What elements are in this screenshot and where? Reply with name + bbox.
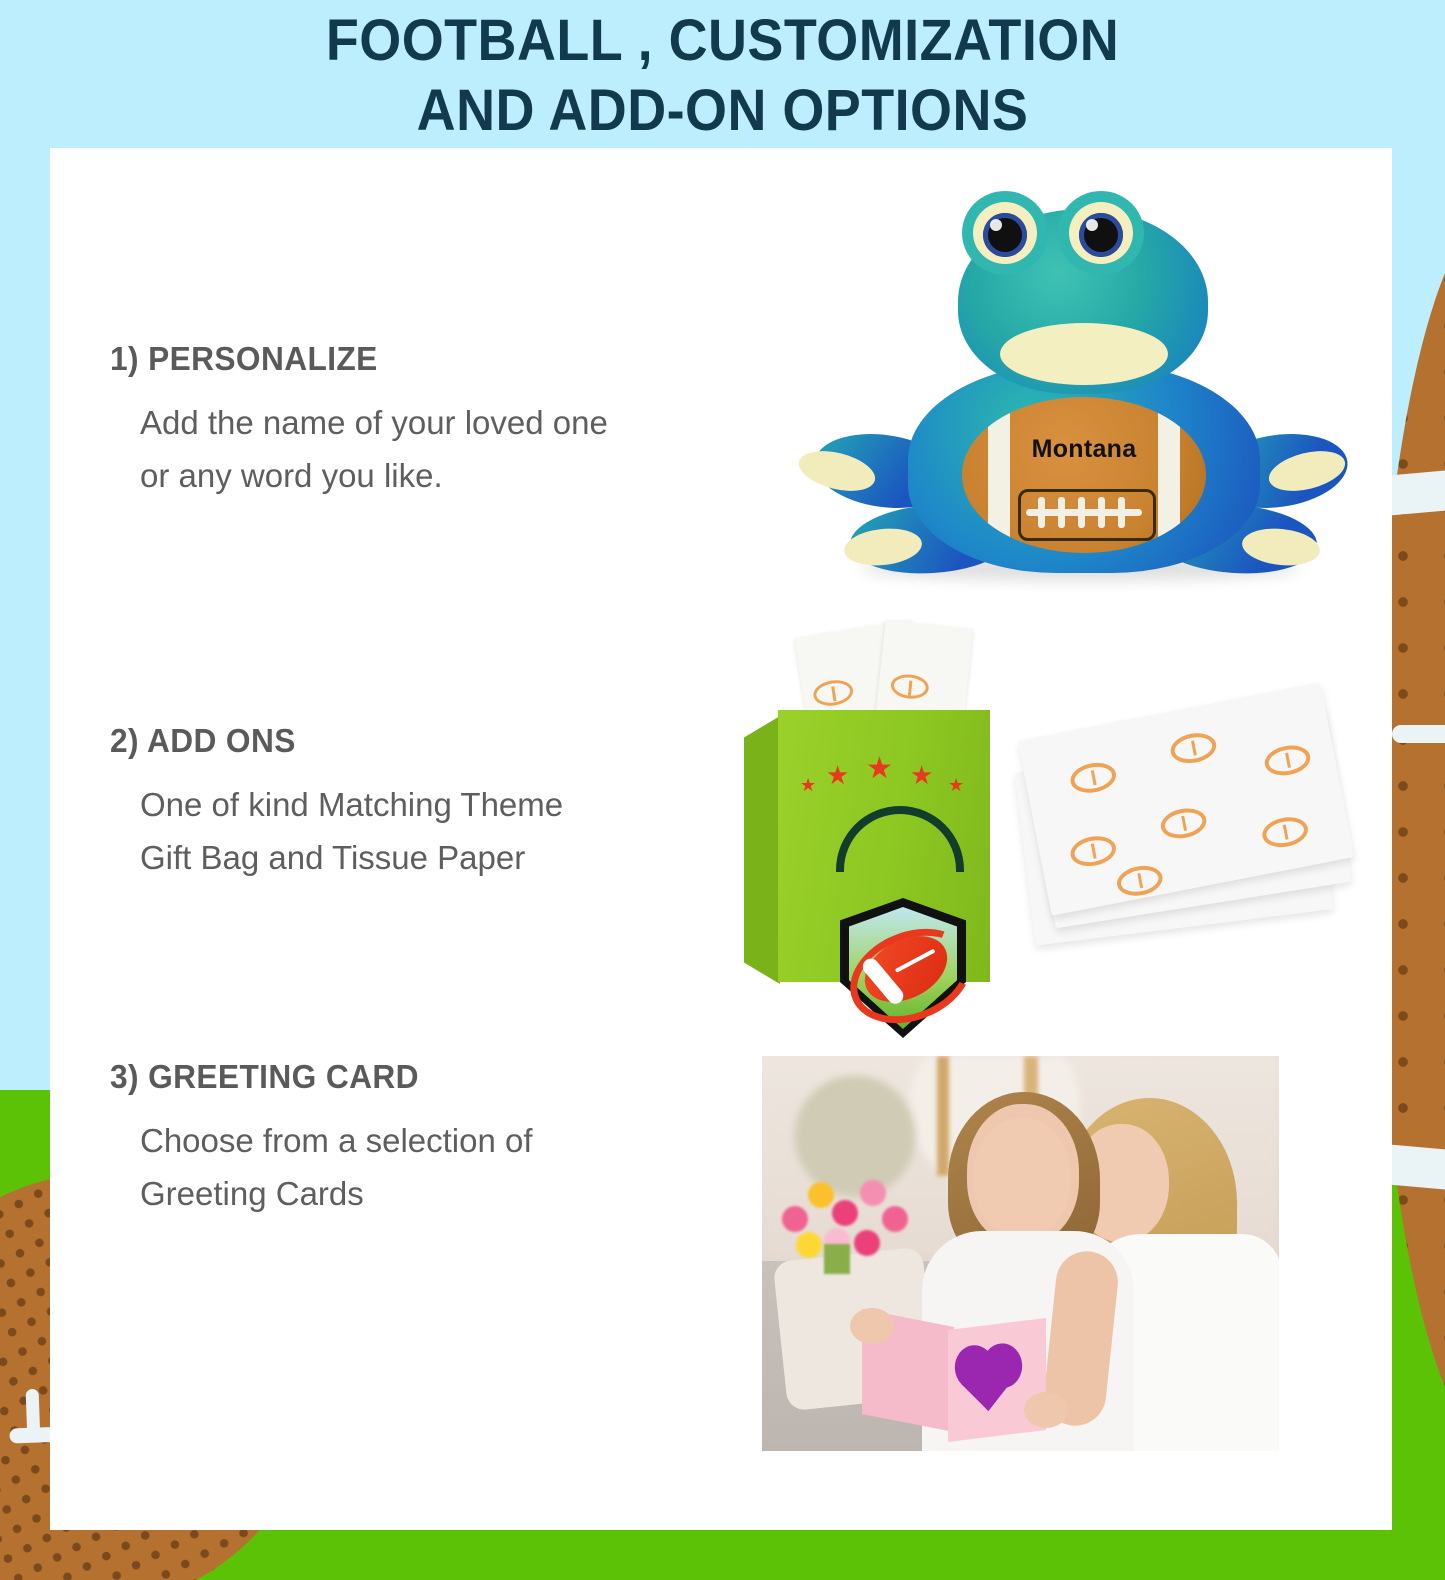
star-icon: ★ [800, 776, 816, 794]
greeting-card-photo [762, 1056, 1279, 1451]
tissue-football-print [1114, 862, 1165, 899]
frog-eye-left [983, 213, 1027, 257]
right-football-lace-spine [1392, 725, 1445, 743]
plush-football-patch: Montana [962, 397, 1206, 553]
step-1-body: Add the name of your loved one or any wo… [140, 396, 790, 502]
frog-eye-right [1079, 213, 1123, 257]
tissue-football-print [890, 673, 930, 701]
star-icon: ★ [826, 762, 849, 788]
gift-bag-handle [836, 806, 964, 872]
photo-hand [1024, 1392, 1068, 1428]
frog-eye-glint [990, 219, 1002, 231]
tissue-football-print [1168, 730, 1219, 767]
page-title-line-1: FOOTBALL , CUSTOMIZATION [51, 6, 1395, 76]
photo-hand [850, 1308, 894, 1344]
tissue-football-print [812, 677, 855, 708]
flower [854, 1230, 880, 1256]
tissue-football-print [1068, 833, 1119, 870]
addons-image: ★ ★ ★ ★ ★ [760, 620, 1370, 1020]
football-shield-emblem [840, 898, 966, 1038]
step-3-body: Choose from a selection of Greeting Card… [140, 1114, 790, 1220]
plush-football-lace [1078, 497, 1085, 528]
gift-bag: ★ ★ ★ ★ ★ [778, 710, 990, 982]
page-title-line-2: AND ADD-ON OPTIONS [51, 76, 1395, 146]
tissue-football-print [1068, 759, 1119, 796]
step-2-body: One of kind Matching Theme Gift Bag and … [140, 778, 790, 884]
step-add-ons: 2) ADD ONS One of kind Matching Theme Gi… [110, 722, 790, 884]
plush-football-stripe-left [988, 401, 1010, 549]
tissue-football-print [1158, 805, 1209, 842]
frog-chin [1000, 323, 1168, 385]
step-personalize: 1) PERSONALIZE Add the name of your love… [110, 340, 790, 502]
star-icon: ★ [866, 754, 893, 784]
frog-eye-glint [1086, 219, 1098, 231]
star-icon: ★ [948, 776, 964, 794]
flower [796, 1232, 822, 1258]
infographic-canvas: FOOTBALL , CUSTOMIZATION AND ADD-ON OPTI… [0, 0, 1445, 1580]
step-3-heading: 3) GREETING CARD [110, 1058, 763, 1096]
plush-football-lace [1058, 497, 1065, 528]
plush-frog-image: Montana [790, 185, 1370, 605]
photo-shelf [937, 1056, 949, 1176]
shield-football-lace [895, 949, 936, 973]
tissue-football-print [1262, 742, 1313, 779]
plush-football-lace [1038, 497, 1045, 528]
flower [832, 1200, 858, 1226]
step-2-heading: 2) ADD ONS [110, 722, 763, 760]
page-title: FOOTBALL , CUSTOMIZATION AND ADD-ON OPTI… [51, 6, 1395, 146]
tissue-paper-stack [1018, 692, 1350, 942]
plush-football-lace [1098, 497, 1105, 528]
flower [860, 1180, 886, 1206]
flower [808, 1182, 834, 1208]
photo-flower-stems [824, 1244, 850, 1274]
tissue-football-print [1260, 814, 1311, 851]
plush-football-lace [1118, 497, 1125, 528]
personalized-name-text: Montana [962, 435, 1206, 464]
step-1-heading: 1) PERSONALIZE [110, 340, 763, 378]
plush-football-stripe-right [1158, 401, 1180, 549]
star-icon: ★ [910, 762, 933, 788]
step-greeting-card: 3) GREETING CARD Choose from a selection… [110, 1058, 790, 1220]
left-football-lace [26, 1389, 41, 1441]
flower [782, 1206, 808, 1232]
flower [882, 1206, 908, 1232]
photo-daughter-face [973, 1118, 1071, 1240]
gift-bag-side-panel [744, 716, 780, 984]
